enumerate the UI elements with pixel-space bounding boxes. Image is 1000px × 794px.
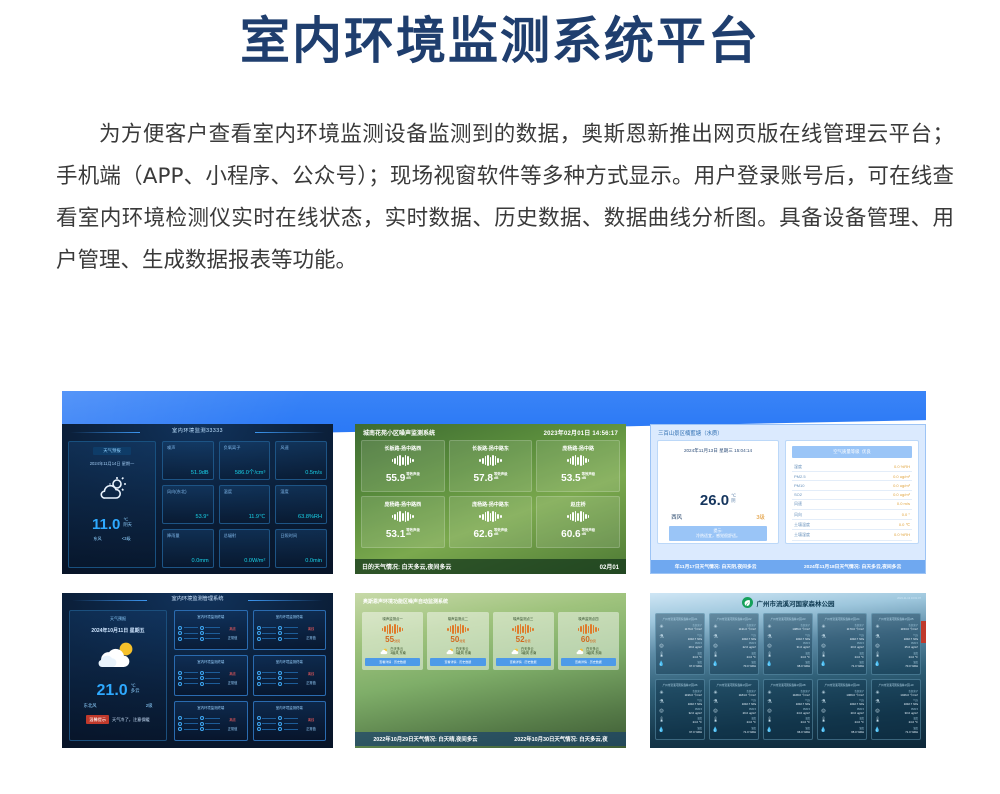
device-panel[interactable]: 室内环境监测终端离线正常值 [253,655,327,695]
pressure-icon: ⚗ [712,699,719,705]
device-panel[interactable]: 室内环境监测终端离线正常值 [174,701,248,741]
sensor-column [257,626,277,641]
temperature-icon: 🌡 [712,652,719,658]
station-panel[interactable]: 广州市流溪河国家森林公园-05✳负氧离子1153.0 个/cm³⚗气压1002.… [871,613,921,675]
metric-value: 0.0W/m² [244,558,265,564]
station-cell[interactable]: 长板路-扬中路东57.8等效声级dB [449,440,533,492]
sensor-value: 24.0 ug/m³ [775,711,810,715]
gauge-icon [278,631,282,635]
gauge-icon [200,671,204,675]
sensor-row: 💧湿度70.0 %RH [712,660,756,668]
gauge-icon [278,671,282,675]
status-badge: 温馨提示 [86,715,109,724]
sun-behind-cloud-icon [95,476,129,507]
panel-title: 广州市流溪河国家森林公园-04 [820,617,864,621]
status-value: 正常值 [222,635,244,640]
station-cell[interactable]: 噪声监测点四60分贝白天多云3级风 东南查看详情 · 历史数据 [558,612,619,670]
station-unit: 等效声级dB [582,529,596,537]
footer-left: 2022年10月29日天气情况: 白天晴,夜间多云 [373,735,477,743]
station-grid: 广州市流溪河国家森林公园-01✳负氧离子1176.0 个/cm³⚗气压1002.… [650,611,926,742]
sensor-row: 💧湿度70.0 %RH [874,660,918,668]
page-description: 为方便客户查看室内环境监测设备监测到的数据，奥斯恩新推出网页版在线管理云平台；手… [56,114,954,282]
station-panel[interactable]: 广州市流溪河国家森林公园-01✳负氧离子1176.0 个/cm³⚗气压1002.… [655,613,705,675]
measurement-key: 风向 [794,512,802,518]
gauge-icon [278,626,282,630]
negative-ion-icon: ✳ [874,624,881,630]
weather-text: 白天多云3级风 东南 [521,647,536,655]
sensor-row: ✳负氧离子1086.0 个/cm³ [766,623,810,631]
sensor-value: 1002.7 hPa [883,702,918,706]
weather-condition: 阴 [731,498,736,503]
timestamp: 2024-11-13 16:01:07 [897,597,921,600]
pm25-icon: ◎ [820,708,827,714]
sensor-row [178,631,198,635]
negative-ion-icon: ✳ [712,624,719,630]
card-header: 室内环境监测33333 [62,424,333,438]
sensor-value: 22.0 ug/m³ [721,645,756,649]
temperature-readout: 11.0 ℃ 阴天 [92,517,132,532]
station-cell[interactable]: 噪声监测点三52分贝白天多云3级风 东南查看详情 · 历史数据 [493,612,554,670]
waveform-icon [539,455,617,466]
weather-row: 白天多云3级风 东南 [430,647,485,655]
metric-cell[interactable]: 风速0.5m/s [275,441,327,480]
station-grid: 噪声监测点一55分贝白天多云3级风 东南查看详情 · 历史数据噪声监测点二50分… [355,605,626,670]
sensor-row: 💧湿度66.0 %RH [766,726,810,734]
sensor-value: 1184.0 个/cm³ [721,693,756,697]
metric-value: 11.9℃ [249,514,266,520]
sensor-row: 💧湿度65.0 %RH [820,726,864,734]
measurement-row: 风向0.0 ° [792,510,912,520]
station-name: 庞杨路-扬中路西 [364,501,442,508]
sensor-row: 🌡温度24.0 ℃ [820,651,864,659]
metric-value: 0.5m/s [305,470,322,476]
detail-button[interactable]: 查看详情 · 历史数据 [365,658,420,666]
gauge-icon [257,676,261,680]
sensor-row: ◎PM2.525.0 ug/m³ [874,642,918,649]
sensor-row [257,676,277,680]
panel-status: 离线正常值 [222,626,244,640]
measurement-value: 0.0 ℃ [899,522,910,528]
status-value: 正常值 [300,680,322,685]
sensor-row: ⚗气压1002.7 hPa [658,698,702,706]
pressure-icon: ⚗ [766,634,773,640]
station-panel[interactable]: 广州市流溪河国家森林公园-07✳负氧离子1184.0 个/cm³⚗气压1002.… [709,679,759,741]
card-indoor-manage[interactable]: 室内环境监测管理系统 天气预报 2024年10月11日 星期五 21.0 [62,593,333,748]
panel-title: 广州市流溪河国家森林公园-03 [766,617,810,621]
sensor-value: 24.0 ℃ [721,720,756,724]
sensor-value: 28.0 ug/m³ [667,645,702,649]
sensor-row [178,676,198,680]
station-panel[interactable]: 广州市流溪河国家森林公园-10✳负氧离子1046.0 个/cm³⚗气压1002.… [871,679,921,741]
station-panel[interactable]: 广州市流溪河国家森林公园-09✳负氧离子1069.0 个/cm³⚗气压1002.… [817,679,867,741]
sensor-value: 30.0 ug/m³ [883,711,918,715]
sensor-row [257,727,277,731]
wind-level: 3级 [756,513,764,521]
footer-right: 2022年10月30日天气情况: 白天多云,夜 [514,735,607,743]
metric-cell[interactable]: 日照时间0.0min [275,529,327,568]
panel-status: 离线正常值 [222,717,244,731]
metric-value: 51.9dB [191,470,209,476]
sensor-row [257,716,277,720]
sensor-value: 24.0 ℃ [883,655,918,659]
weather-row: 白天多云3级风 东南 [561,647,616,655]
station-unit: 等效声级dB [582,473,596,481]
weather-text: 白天多云3级风 东南 [456,647,471,655]
sensor-row [200,727,220,731]
gauge-icon [200,722,204,726]
metric-value: 63.8%RH [298,514,322,520]
metric-cell[interactable]: 风向(东北)53.9° [162,485,214,524]
sensor-value: 31.0 ug/m³ [775,645,810,649]
metric-label: 风向(东北) [167,489,209,495]
weather-tag: 天气预报 [93,447,131,455]
gauge-icon [278,722,282,726]
pressure-icon: ⚗ [658,699,665,705]
measurement-table: 空气质量等级 优良 湿度0.0 %RHPM2.50.0 ug/m³PM100.0… [785,440,919,544]
pm25-icon: ◎ [874,643,881,649]
pressure-icon: ⚗ [820,699,827,705]
metric-value: 0.0mm [192,558,209,564]
sensor-value: 68.0 %RH [775,664,810,668]
sensor-value: 71.0 %RH [829,664,864,668]
gauge-icon [200,716,204,720]
sensor-row: 🌡温度24.0 ℃ [766,651,810,659]
sensor-value: 1069.0 个/cm³ [829,693,864,697]
card-footer: 年11月17日天气情况: 白天阴,夜间多云 2024年11月18日天气情况: 白… [651,560,925,573]
station-panel[interactable]: 广州市流溪河国家森林公园-03✳负氧离子1086.0 个/cm³⚗气压1002.… [763,613,813,675]
station-value: 60分贝 [561,635,616,644]
sensor-row: 💧湿度67.0 %RH [658,726,702,734]
sensor-row: ✳负氧离子1184.0 个/cm³ [712,689,756,697]
footer-right: 02月01 [600,562,619,571]
sensor-row [200,671,220,675]
gauge-icon [278,676,282,680]
measurement-value: 0.0 m/s [897,501,910,507]
gauge-icon [178,722,182,726]
sensor-value: 24.0 ℃ [883,720,918,724]
station-cell[interactable]: 庞杨路-扬中路53.5等效声级dB [536,440,620,492]
sensor-row: 💧湿度67.0 %RH [658,660,702,668]
metric-cell[interactable]: 湿度63.8%RH [275,485,327,524]
sensor-value: 1002.7 hPa [721,637,756,641]
sensor-value: 24.0 ℃ [829,720,864,724]
pressure-icon: ⚗ [658,634,665,640]
station-value: 53.1等效声级dB [386,529,420,540]
temperature-value: 11.0 [92,517,120,532]
metric-label: 噪声 [167,445,209,451]
station-value: 60.6等效声级dB [561,529,595,540]
temperature-icon: 🌡 [874,717,881,723]
card-datetime: 2023年02月01日 14:56:17 [544,428,618,437]
temperature-icon: 🌡 [712,717,719,723]
card-header: 室内环境监测管理系统 [62,593,333,606]
sensor-value: 67.0 %RH [667,664,702,668]
sensor-row [200,722,220,726]
station-name: 噪声监测点三 [496,616,551,621]
wind-direction: 东风 [93,536,101,542]
footer-left: 年11月17日天气情况: 白天阴,夜间多云 [675,563,757,570]
measurement-row: 土壤温度0.0 ℃ [792,520,912,530]
gauge-icon [178,676,182,680]
measurement-key: PM2.5 [794,474,806,479]
pm25-icon: ◎ [766,708,773,714]
sensor-row: 💧湿度71.0 %RH [874,726,918,734]
sensor-row: ✳负氧离子1046.0 个/cm³ [874,689,918,697]
sensor-row [278,727,298,731]
sensor-column [200,716,220,731]
measurement-value: 0.0 ug/m³ [893,483,910,488]
negative-ion-icon: ✳ [766,690,773,696]
sensor-value: 1086.0 个/cm³ [775,627,810,631]
weather-condition: 阴天 [123,522,132,527]
card-indoor-monitor[interactable]: 室内环境监测33333 天气预报 2024年11月14日 星期一 11.0 [62,424,333,574]
station-value: 57.8等效声级dB [473,473,507,484]
footer-left: 日的天气情况: 白天多云,夜间多云 [362,562,451,571]
humidity-icon: 💧 [874,661,881,667]
sensor-column [178,716,198,731]
metric-value: 0.0min [305,558,322,564]
humidity-icon: 💧 [820,661,827,667]
pressure-icon: ⚗ [820,634,827,640]
negative-ion-icon: ✳ [712,690,719,696]
weather-condition: 多云 [131,688,140,693]
sensor-column [178,671,198,686]
sun-behind-cloud-icon [379,648,388,655]
measurement-value: 0.0 ° [902,512,910,518]
card-scenic-noise[interactable]: 奥斯恩声环境功能区噪声自动监测系统 噪声监测点一55分贝白天多云3级风 东南查看… [355,593,626,748]
temperature-icon: 🌡 [658,652,665,658]
sensor-row [257,682,277,686]
station-panel[interactable]: 广州市流溪河国家森林公园-06✳负氧离子1196.0 个/cm³⚗气压1002.… [655,679,705,741]
card-noise-community[interactable]: 城南花苑小区噪声监测系统 2023年02月01日 14:56:17 长板路-扬中… [355,424,626,574]
weather-panel: 天气预报 2024年10月11日 星期五 21.0 ℃ 多云 [69,610,167,741]
sensor-row [257,637,277,641]
metric-grid: 噪声51.9dB 负氧离子586.0个/cm³ 风速0.5m/s 风向(东北)5… [162,441,327,568]
station-panel[interactable]: 广州市流溪河国家森林公园-02✳负氧离子1131.0 个/cm³⚗气压1002.… [709,613,759,675]
weather-tag: 天气预报 [110,616,126,622]
screenshot-gallery: 室内环境监测33333 天气预报 2024年11月14日 星期一 11.0 [0,380,1000,780]
sensor-row: ⚗气压1002.7 hPa [874,698,918,706]
waveform-icon [452,455,530,466]
card-water-quality[interactable]: 三百山景区楠藍塘（水质） 2024年11月13日 星期三 15:04:14 26… [650,424,926,574]
sensor-value: 1168.0 个/cm³ [775,693,810,697]
station-unit: 等效声级dB [494,529,508,537]
sensor-row: ◎PM2.528.0 ug/m³ [658,642,702,649]
station-grid: 长板路-扬中路西55.9等效声级dB长板路-扬中路东57.8等效声级dB庞杨路-… [355,440,626,548]
sensor-row: ✳负氧离子1153.0 个/cm³ [874,623,918,631]
sensor-row: ◎PM2.531.0 ug/m³ [766,642,810,649]
humidity-icon: 💧 [874,727,881,733]
sensor-row: 🌡温度24.0 ℃ [658,716,702,724]
device-grid: 室内环境监测终端离线正常值室内环境监测终端离线正常值室内环境监测终端离线正常值室… [174,610,326,741]
weather-date: 2024年11月14日 星期一 [90,461,135,467]
station-unit: 分贝 [590,639,596,643]
leaf-logo-icon [742,597,753,608]
panel-title: 广州市流溪河国家森林公园-08 [766,683,810,687]
waveform-icon [364,511,442,522]
station-unit: 分贝 [394,639,400,643]
card-forest-park[interactable]: 广州市流溪河国家森林公园 2024-11-13 16:01:07 广州市流溪河国… [650,593,926,748]
sensor-value: 1131.0 个/cm³ [721,627,756,631]
sensor-column [178,626,198,641]
weather-panel: 2024年11月13日 星期三 15:04:14 26.0 ℃ 阴 西风 3级 [657,440,779,544]
station-value: 50分贝 [430,635,485,644]
status-text: 离线 [300,671,322,676]
gauge-icon [200,631,204,635]
metric-cell[interactable]: 温度11.9℃ [219,485,271,524]
gauge-icon [200,637,204,641]
negative-ion-icon: ✳ [820,690,827,696]
sensor-row [178,727,198,731]
gauge-icon [278,727,282,731]
metric-label: 风速 [280,445,322,451]
sensor-value: 1196.0 个/cm³ [667,693,702,697]
station-unit: 分贝 [459,639,465,643]
pressure-icon: ⚗ [766,699,773,705]
panel-title: 广州市流溪河国家森林公园-05 [874,617,918,621]
device-panel[interactable]: 室内环境监测终端离线正常值 [253,610,327,650]
sensor-row: 🌡温度24.0 ℃ [874,651,918,659]
sensor-row [278,637,298,641]
sensor-value: 20.0 ug/m³ [829,711,864,715]
sensor-row [178,637,198,641]
wind-readout: 东风 <3级 [93,536,130,542]
pm25-icon: ◎ [820,643,827,649]
sensor-row [278,716,298,720]
sensor-value: 1046.0 个/cm³ [883,693,918,697]
sensor-row: 🌡温度24.0 ℃ [766,716,810,724]
sensor-row: ◎PM2.532.0 ug/m³ [658,708,702,715]
gauge-icon [178,671,182,675]
waveform-icon [430,624,485,634]
station-value: 53.5等效声级dB [561,473,595,484]
weather-text: 白天多云3级风 东南 [586,647,601,655]
sensor-column [200,671,220,686]
sensor-column [257,671,277,686]
weather-text: 白天多云3级风 东南 [390,647,405,655]
station-name: 赵庄桥 [539,501,617,508]
panel-title: 广州市流溪河国家森林公园-01 [658,617,702,621]
sensor-row: ✳负氧离子1168.0 个/cm³ [766,689,810,697]
weather-panel: 天气预报 2024年11月14日 星期一 11.0 ℃ 阴天 [68,441,156,568]
device-panel[interactable]: 室内环境监测终端离线正常值 [253,701,327,741]
humidity-icon: 💧 [766,661,773,667]
metric-cell[interactable]: 负氧离子586.0个/cm³ [219,441,271,480]
measurement-value: 0.0 ug/m³ [893,474,910,479]
side-marker [921,621,926,643]
station-panel[interactable]: 广州市流溪河国家森林公园-08✳负氧离子1168.0 个/cm³⚗气压1002.… [763,679,813,741]
sensor-row: 💧湿度71.0 %RH [820,660,864,668]
metric-label: 负氧离子 [224,445,266,451]
sensor-value: 24.0 ℃ [775,655,810,659]
sensor-row [257,626,277,630]
sun-behind-cloud-icon [445,648,454,655]
station-name: 噪声监测点二 [430,616,485,621]
device-panel[interactable]: 室内环境监测终端离线正常值 [174,610,248,650]
sensor-value: 1002.7 hPa [775,702,810,706]
station-cell[interactable]: 噪声监测点一55分贝白天多云3级风 东南查看详情 · 历史数据 [362,612,423,670]
metric-cell[interactable]: 降雨量0.0mm [162,529,214,568]
station-cell[interactable]: 庞杨路-扬中路西53.1等效声级dB [361,496,445,548]
gauge-icon [200,727,204,731]
gauge-icon [257,722,261,726]
measurement-row: 湿度0.0 %RH [792,462,912,472]
status-text: 离线 [222,626,244,631]
sun-behind-cloud-icon [575,648,584,655]
sensor-row: ⚗气压1002.7 hPa [658,633,702,641]
sensor-row: ◎PM2.524.0 ug/m³ [766,708,810,715]
station-cell[interactable]: 赵庄桥60.6等效声级dB [536,496,620,548]
metric-label: 降雨量 [167,533,209,539]
station-cell[interactable]: 长板路-扬中路西55.9等效声级dB [361,440,445,492]
waveform-icon [496,624,551,634]
humidity-icon: 💧 [766,727,773,733]
panel-status: 离线正常值 [300,717,322,731]
sensor-row [278,676,298,680]
station-unit: 等效声级dB [406,529,420,537]
sensor-row: 🌡温度24.0 ℃ [712,651,756,659]
tip-text: 冷热适宜，感觉很舒适。 [669,533,767,538]
sensor-row [178,626,198,630]
negative-ion-icon: ✳ [766,624,773,630]
gauge-icon [178,727,182,731]
metric-cell[interactable]: 噪声51.9dB [162,441,214,480]
station-panel[interactable]: 广州市流溪河国家森林公园-04✳负氧离子1170.0 个/cm³⚗气压1002.… [817,613,867,675]
measurement-key: PM10 [794,483,804,488]
negative-ion-icon: ✳ [820,624,827,630]
sensor-row: ◎PM2.529.0 ug/m³ [712,708,756,715]
sensor-row [257,722,277,726]
station-cell[interactable]: 庞杨路-扬中路东62.6等效声级dB [449,496,533,548]
detail-button[interactable]: 查看详情 · 历史数据 [561,658,616,666]
temperature-icon: 🌡 [658,717,665,723]
waveform-icon [561,624,616,634]
sensor-row [200,637,220,641]
sun-behind-cloud-icon [510,648,519,655]
measurement-key: 土壤湿度 [794,532,810,538]
sensor-column [278,626,298,641]
sensor-value: 24.0 ℃ [667,720,702,724]
sensor-row: ⚗气压1002.7 hPa [766,633,810,641]
panel-title: 广州市流溪河国家森林公园-02 [712,617,756,621]
measurement-row: 土壤湿度0.0 %RH [792,530,912,540]
device-panel[interactable]: 室内环境监测终端离线正常值 [174,655,248,695]
sensor-value: 1153.0 个/cm³ [883,627,918,631]
sensor-row: ◎PM2.520.0 ug/m³ [820,642,864,649]
sensor-row: ✳负氧离子1131.0 个/cm³ [712,623,756,631]
sensor-value: 70.0 %RH [883,664,918,668]
sensor-row: ⚗气压1002.7 hPa [874,633,918,641]
metric-cell[interactable]: 总辐射0.0W/m² [219,529,271,568]
status-text: 离线 [300,717,322,722]
sensor-row [178,716,198,720]
station-name: 长板路-扬中路西 [364,445,442,452]
sensor-row: ◎PM2.530.0 ug/m³ [874,708,918,715]
pm25-icon: ◎ [658,708,665,714]
sensor-row: ✳负氧离子1170.0 个/cm³ [820,623,864,631]
detail-button[interactable]: 查看详情 · 历史数据 [496,658,551,666]
metric-label: 总辐射 [224,533,266,539]
sensor-value: 24.0 ℃ [829,655,864,659]
status-text: 离线 [300,626,322,631]
station-cell[interactable]: 噪声监测点二50分贝白天多云3级风 东南查看详情 · 历史数据 [427,612,488,670]
sensor-row: ⚗气压1002.7 hPa [712,698,756,706]
detail-button[interactable]: 查看详情 · 历史数据 [430,658,485,666]
sensor-row [200,676,220,680]
sensor-row: 💧湿度71.0 %RH [712,726,756,734]
alert-row: 温馨提示 天气冷了，注意保暖 [86,715,149,724]
sensor-row [257,631,277,635]
